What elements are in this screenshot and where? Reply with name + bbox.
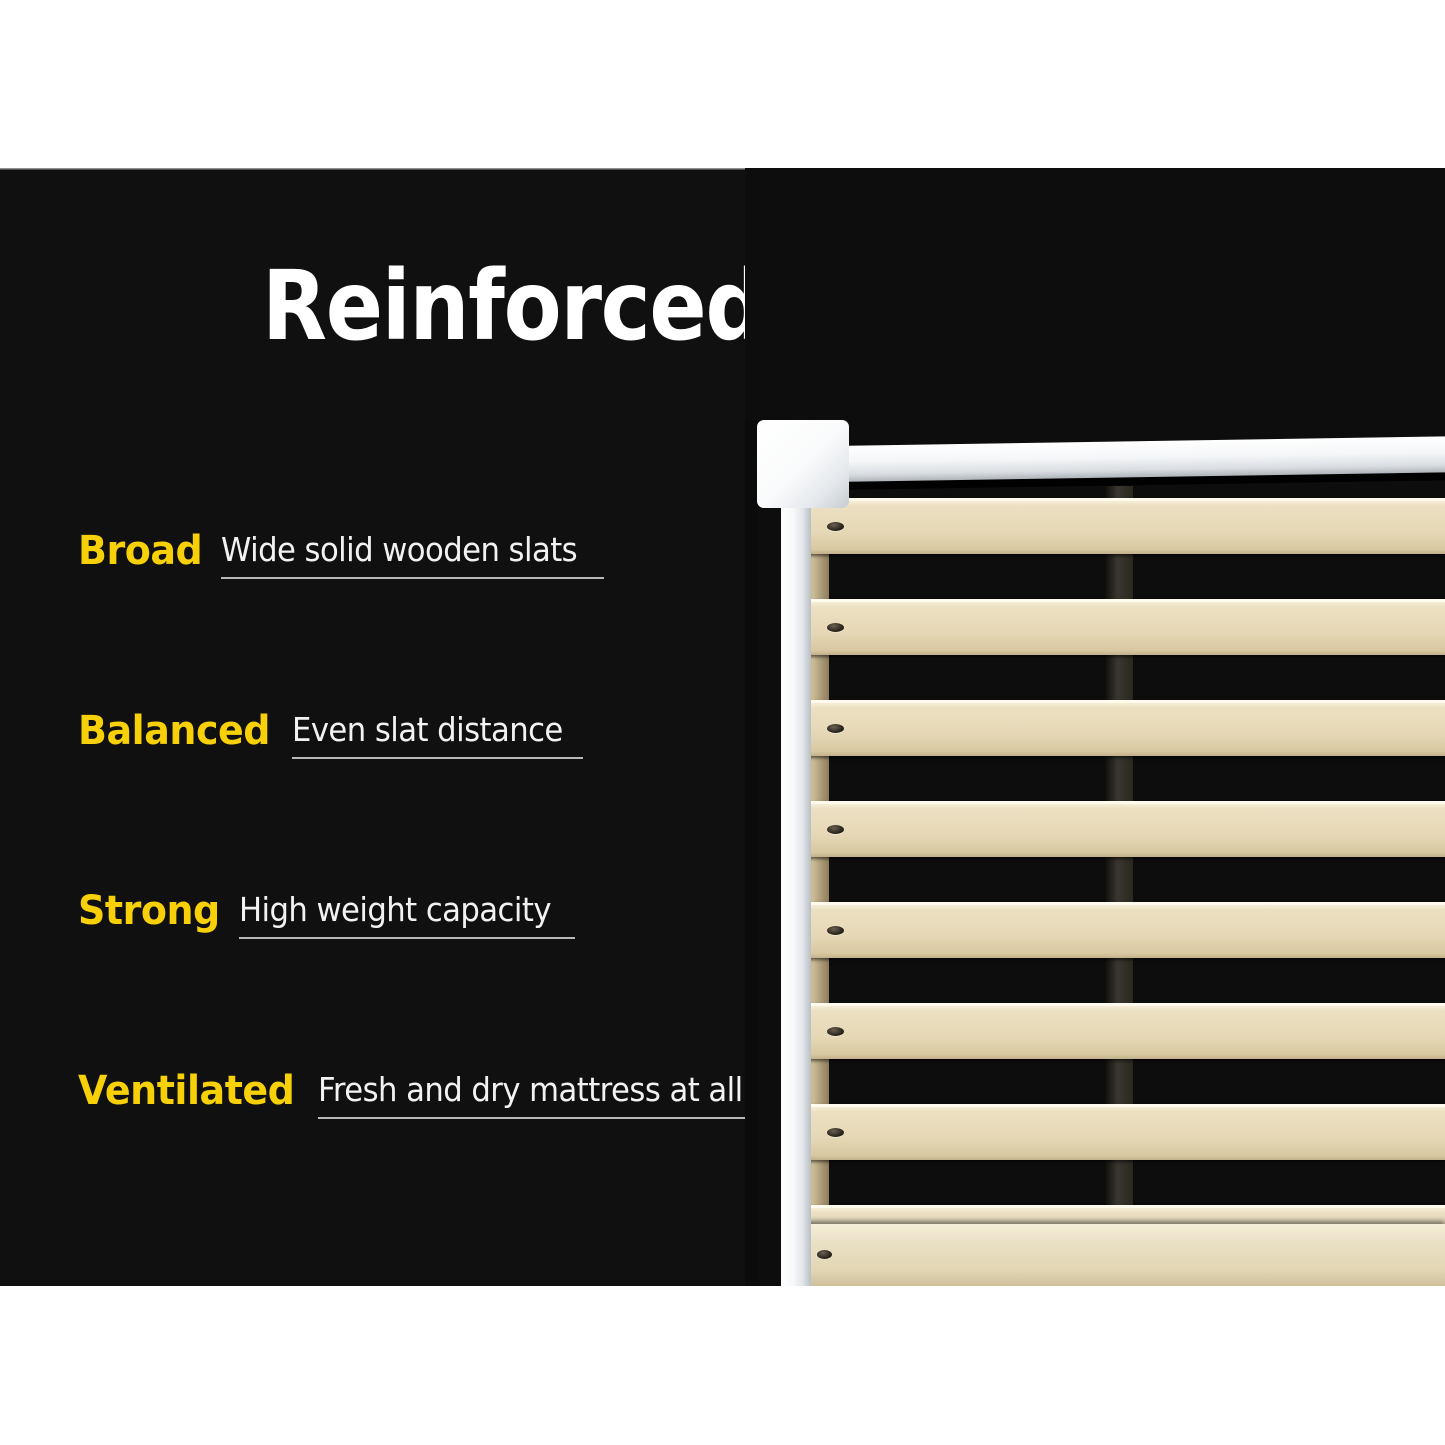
screw-icon	[827, 1027, 844, 1036]
corner-post-leg	[781, 498, 811, 1286]
screw-icon	[827, 1128, 844, 1137]
screw-icon	[817, 1250, 832, 1259]
wooden-slat	[805, 498, 1445, 554]
feature-row-balanced: Balanced Even slat distance	[78, 705, 778, 885]
feature-list: Broad Wide solid wooden slats Balanced E…	[78, 525, 778, 1119]
screw-icon	[827, 825, 844, 834]
photo-left-shadow	[745, 420, 759, 1286]
product-photo	[745, 168, 1445, 1286]
feature-description: Even slat distance	[292, 708, 563, 752]
wooden-slat	[805, 700, 1445, 756]
feature-row-strong: Strong High weight capacity	[78, 885, 778, 1065]
feature-label: Strong	[78, 885, 231, 937]
feature-description-group: High weight capacity	[239, 885, 574, 939]
feature-underline	[239, 937, 574, 939]
wooden-slat	[805, 1104, 1445, 1160]
wooden-slat	[805, 801, 1445, 857]
wooden-slat	[805, 902, 1445, 958]
wooden-slat	[805, 599, 1445, 655]
feature-row-broad: Broad Wide solid wooden slats	[78, 525, 778, 705]
feature-description: Wide solid wooden slats	[221, 528, 577, 572]
feature-label: Broad	[78, 525, 214, 577]
feature-description: High weight capacity	[239, 888, 551, 932]
feature-underline	[292, 757, 583, 759]
product-feature-image: Reinforced thick slats Broad Wide solid …	[0, 0, 1445, 1445]
bottom-rail	[793, 1224, 1445, 1286]
wooden-slat	[805, 1003, 1445, 1059]
screw-icon	[827, 724, 844, 733]
feature-description-group: Wide solid wooden slats	[221, 525, 604, 579]
screw-icon	[827, 926, 844, 935]
feature-label: Balanced	[78, 705, 281, 757]
slat-deck	[805, 498, 1445, 1286]
feature-label: Ventilated	[78, 1065, 306, 1117]
feature-row-ventilated: Ventilated Fresh and dry mattress at all…	[78, 1065, 778, 1119]
feature-underline	[221, 577, 604, 579]
feature-description-group: Even slat distance	[292, 705, 583, 759]
screw-icon	[827, 623, 844, 632]
corner-post-cap	[757, 420, 849, 508]
screw-icon	[827, 522, 844, 531]
